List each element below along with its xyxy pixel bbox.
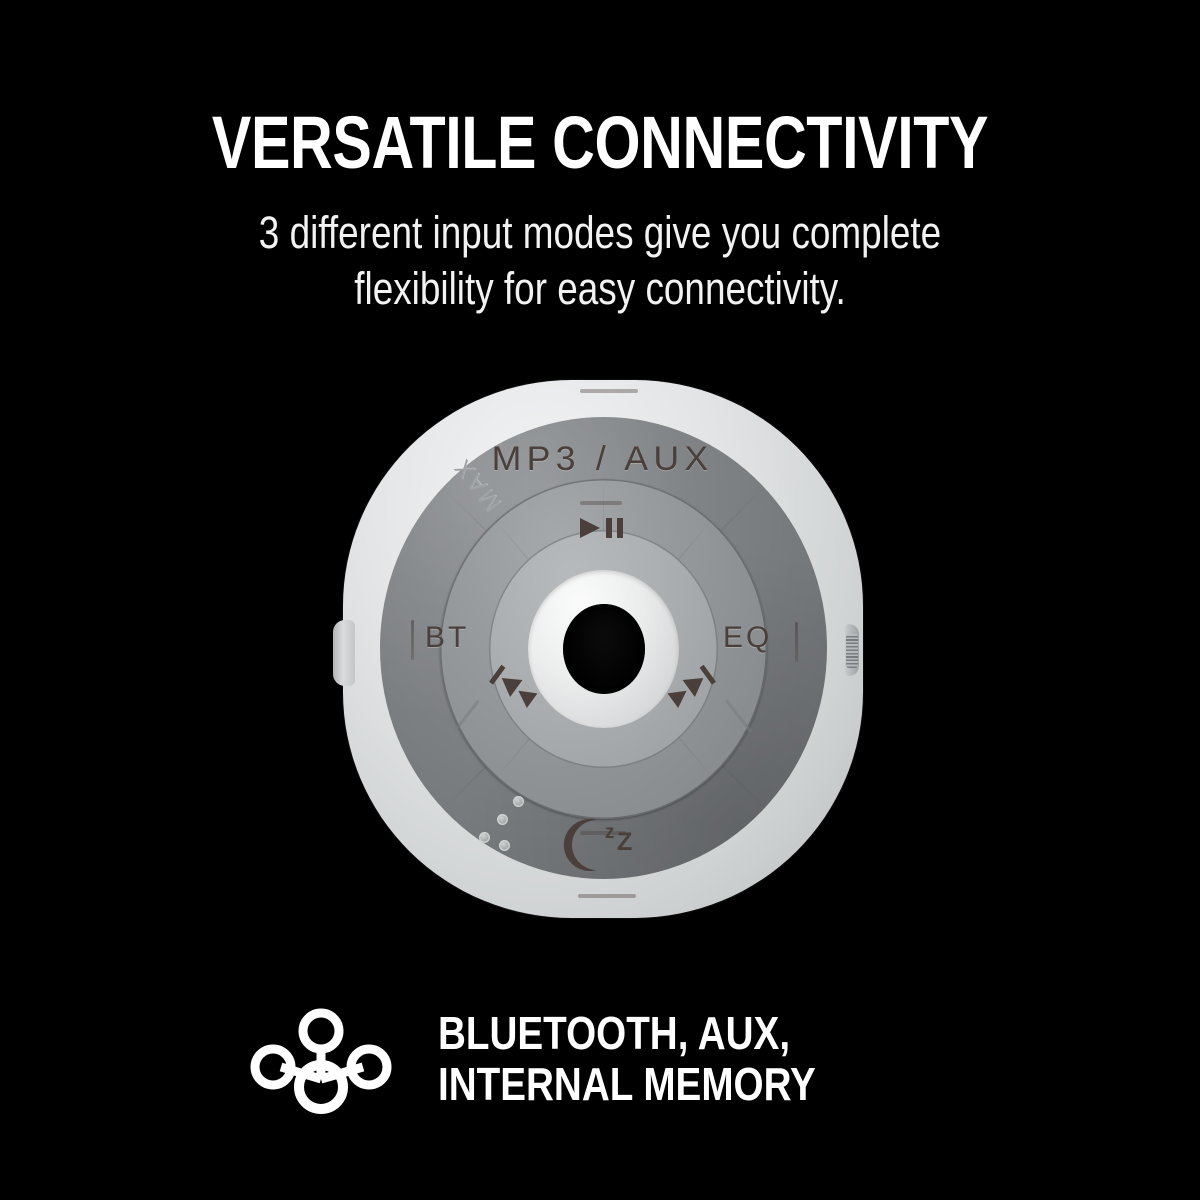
led-indicator: [513, 796, 524, 807]
bluetooth-button-label[interactable]: BT: [425, 621, 469, 655]
play-pause-icon: [576, 514, 630, 542]
bt-tick-mark: [411, 620, 414, 660]
svg-text:z: z: [605, 822, 615, 843]
network-hub-icon: [245, 1005, 397, 1115]
moon-sleep-icon: z Z: [557, 812, 649, 876]
led-indicator: [499, 840, 510, 851]
footer-text-block: BLUETOOTH, AUX, INTERNAL MEMORY: [438, 1008, 816, 1110]
page-title: VERSATILE CONNECTIVITY: [120, 104, 1080, 182]
footer-line2: INTERNAL MEMORY: [438, 1059, 816, 1110]
speaker-product-image: MP3 / AUX MAX BT EQ: [295, 372, 910, 942]
led-indicator: [497, 814, 508, 825]
side-button-left[interactable]: [333, 620, 355, 686]
led-indicator: [479, 832, 490, 843]
tactile-mark-play: [580, 501, 622, 505]
page-subtitle-line1: 3 different input modes give you complet…: [108, 205, 1092, 261]
page-subtitle-line2: flexibility for easy connectivity.: [108, 261, 1092, 317]
eq-tick-mark: [795, 622, 798, 662]
led-indicator-group: [473, 796, 543, 858]
tactile-mark-top: [580, 389, 638, 393]
network-hub-icon-wrap: [245, 1005, 397, 1120]
sleep-timer-button[interactable]: z Z: [295, 812, 910, 876]
tactile-mark-bottom: [578, 894, 636, 898]
equalizer-button-label[interactable]: EQ: [723, 621, 772, 655]
speaker-grill: [846, 634, 858, 668]
page-subtitle: 3 different input modes give you complet…: [108, 205, 1092, 317]
play-pause-button[interactable]: [295, 514, 910, 549]
footer-feature-callout: BLUETOOTH, AUX, INTERNAL MEMORY: [0, 1000, 1200, 1120]
promo-graphic: VERSATILE CONNECTIVITY 3 different input…: [0, 0, 1200, 1200]
svg-text:Z: Z: [617, 828, 632, 856]
center-port-hole: [563, 604, 645, 694]
mode-label-mp3-aux: MP3 / AUX: [280, 440, 926, 479]
footer-line1: BLUETOOTH, AUX,: [438, 1008, 816, 1059]
